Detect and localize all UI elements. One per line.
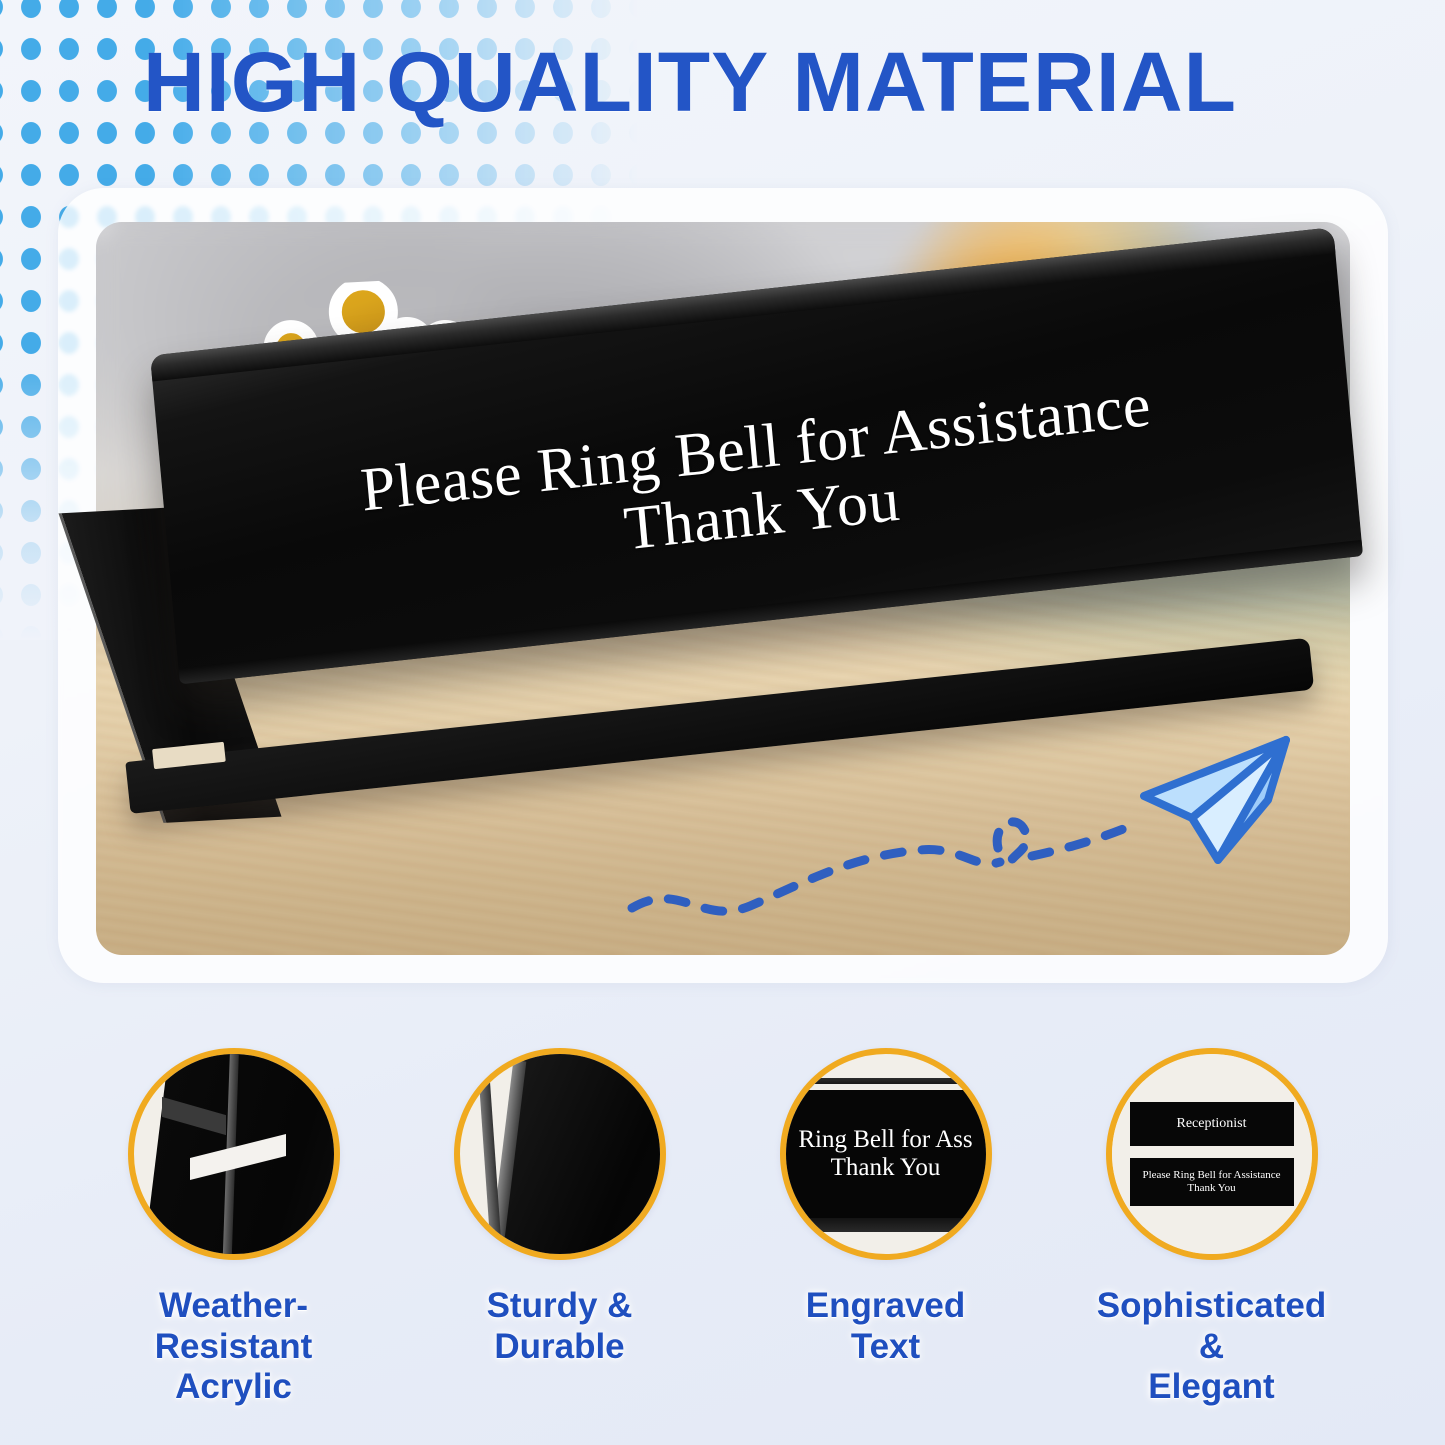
caption-line-1: Engraved [806,1286,966,1327]
feature-thumb-sturdy [454,1048,666,1260]
paper-plane-icon [620,730,1320,960]
feature-item-sturdy-durable[interactable]: Sturdy & Durable [445,1048,675,1408]
feature-list: Weather- Resistant Acrylic Sturdy & Dura… [0,1048,1445,1408]
feature-thumb-elegant: Receptionist Please Ring Bell for Assist… [1106,1048,1318,1260]
caption-line-2: Resistant Acrylic [119,1327,349,1408]
caption-line-2: Text [806,1327,966,1368]
feature-caption-sturdy: Sturdy & Durable [487,1286,633,1367]
page-title: HIGH QUALITY MATERIAL [0,34,1394,131]
feature-thumb-acrylic [128,1048,340,1260]
caption-line-2: Elegant [1097,1367,1327,1408]
feature-item-weather-resistant-acrylic[interactable]: Weather- Resistant Acrylic [119,1048,349,1408]
feature-caption-acrylic: Weather- Resistant Acrylic [119,1286,349,1408]
plate-a-text: Receptionist [1177,1116,1247,1132]
plate-b-line-1: Please Ring Bell for Assistance [1142,1169,1280,1182]
engraved-plate-line-1: Ring Bell for Ass [798,1126,972,1154]
caption-line-2: Durable [487,1327,633,1368]
feature-caption-elegant: Sophisticated & Elegant [1097,1286,1327,1408]
caption-line-1: Sophisticated & [1097,1286,1327,1367]
plate-b-line-2: Thank You [1187,1182,1235,1195]
sign-plate-receptionist: Receptionist [1130,1102,1294,1146]
feature-caption-engraved: Engraved Text [806,1286,966,1367]
engraved-plate-line-2: Thank You [831,1154,941,1182]
feature-item-sophisticated-elegant[interactable]: Receptionist Please Ring Bell for Assist… [1097,1048,1327,1408]
feature-thumb-engraved: Ring Bell for Ass Thank You [780,1048,992,1260]
caption-line-1: Weather- [119,1286,349,1327]
sign-plate-ring-bell: Please Ring Bell for Assistance Thank Yo… [1130,1158,1294,1206]
caption-line-1: Sturdy & [487,1286,633,1327]
engraved-plate: Ring Bell for Ass Thank You [780,1090,992,1218]
feature-item-engraved-text[interactable]: Ring Bell for Ass Thank You Engraved Tex… [771,1048,1001,1408]
